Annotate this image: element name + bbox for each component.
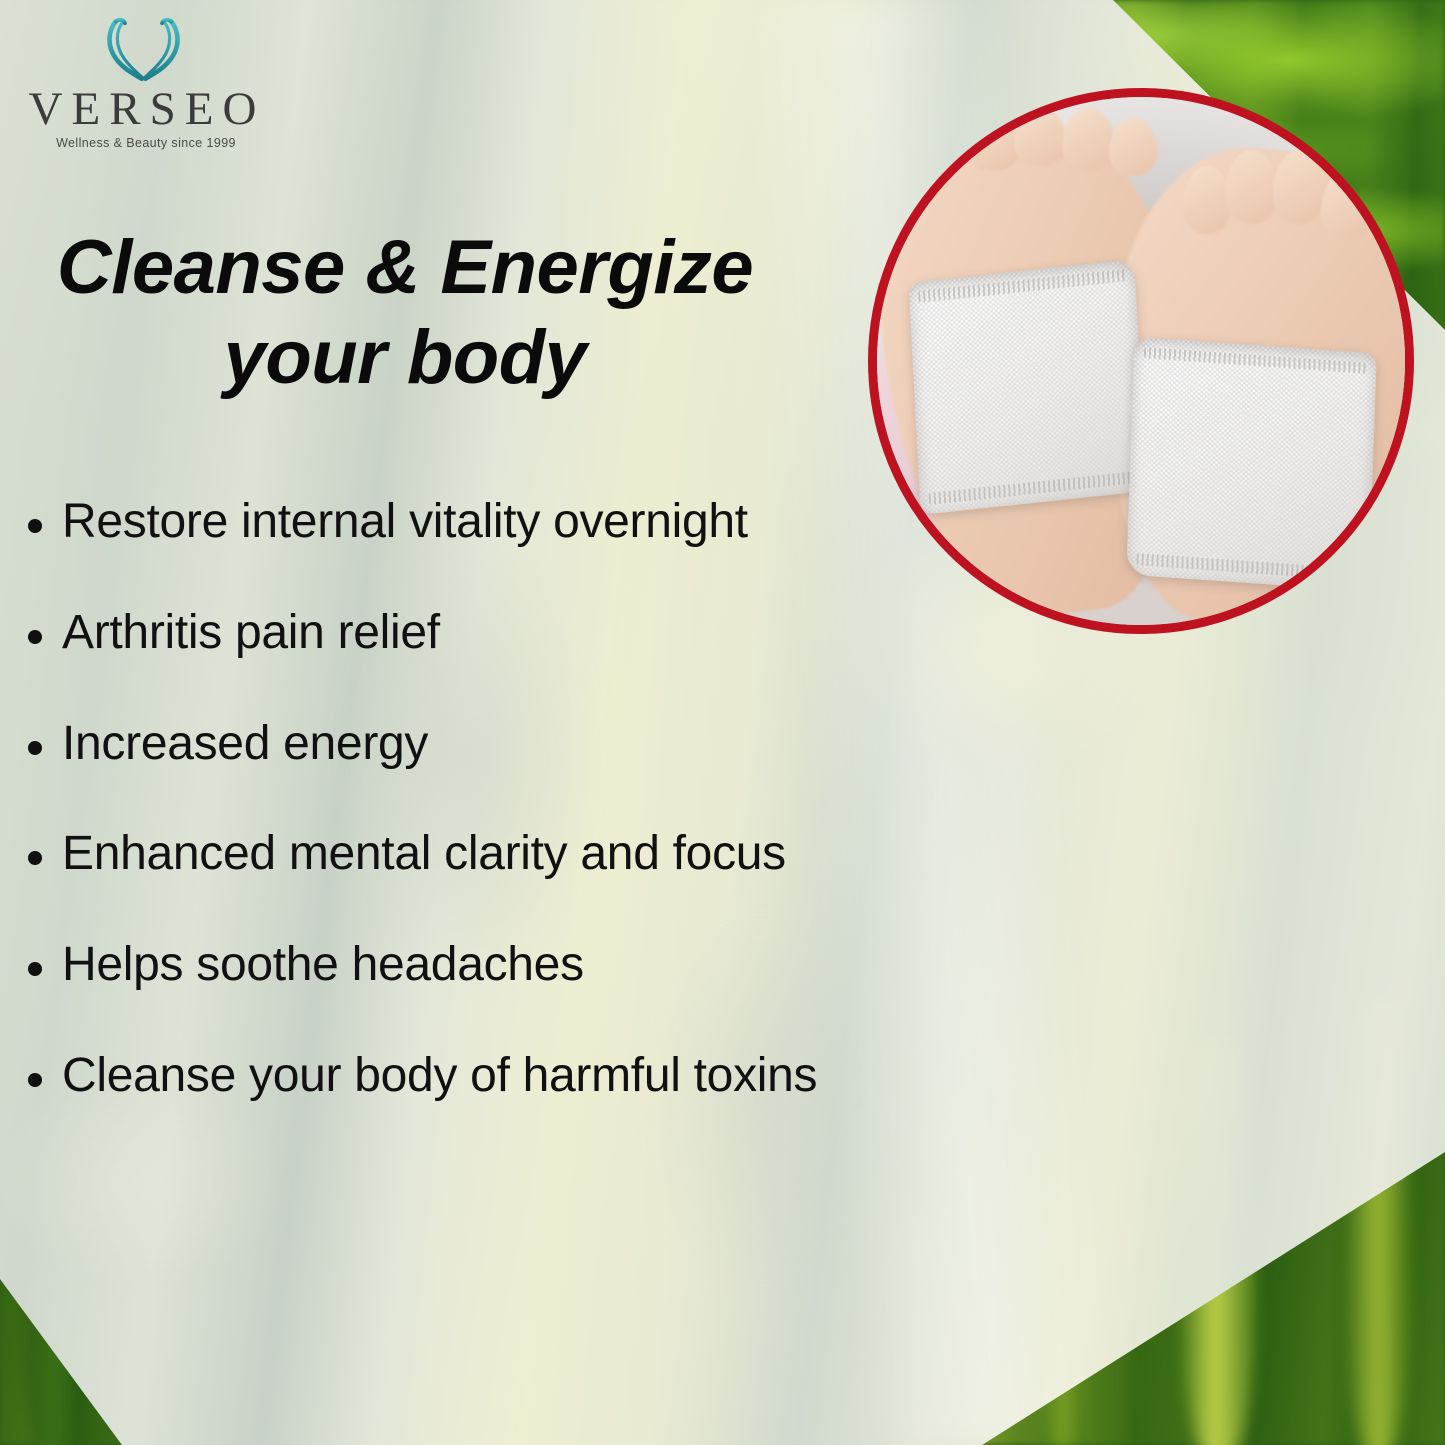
list-item: Arthritis pain relief <box>28 607 988 660</box>
product-photo-image <box>877 97 1405 625</box>
list-item: Enhanced mental clarity and focus <box>28 828 988 881</box>
bullet-icon <box>28 851 42 865</box>
pad-seam <box>1144 347 1367 374</box>
benefit-label: Helps soothe headaches <box>62 939 584 992</box>
list-item: Cleanse your body of harmful toxins <box>28 1050 988 1103</box>
pad-seam <box>1137 554 1360 581</box>
bullet-icon <box>28 1073 42 1087</box>
product-photo-circle <box>868 88 1414 634</box>
benefit-label: Arthritis pain relief <box>62 607 440 660</box>
bullet-icon <box>28 519 42 533</box>
butterfly-monogram-icon <box>88 14 199 88</box>
benefits-list: Restore internal vitality overnight Arth… <box>28 496 988 1161</box>
headline-line-2: your body <box>10 313 800 403</box>
brand-wordmark: VERSEO <box>26 88 268 131</box>
toe <box>967 118 1020 171</box>
page-title: Cleanse & Energize your body <box>10 223 800 402</box>
brand-tagline: Wellness & Beauty since 1999 <box>24 136 268 150</box>
bullet-icon <box>28 630 42 644</box>
detox-foot-pad <box>1127 337 1378 592</box>
headline-line-1: Cleanse & Energize <box>10 223 800 313</box>
benefit-label: Enhanced mental clarity and focus <box>62 828 786 881</box>
bullet-icon <box>28 741 42 755</box>
toe <box>1109 118 1157 176</box>
brand-logo: VERSEO Wellness & Beauty since 1999 <box>18 14 268 150</box>
list-item: Increased energy <box>28 718 988 771</box>
product-infographic-poster: VERSEO Wellness & Beauty since 1999 Clea… <box>0 0 1445 1445</box>
benefit-label: Cleanse your body of harmful toxins <box>62 1050 817 1103</box>
benefit-label: Increased energy <box>62 718 428 771</box>
list-item: Helps soothe headaches <box>28 939 988 992</box>
bullet-icon <box>28 962 42 976</box>
list-item: Restore internal vitality overnight <box>28 496 988 549</box>
benefit-label: Restore internal vitality overnight <box>62 496 748 549</box>
detox-foot-pad <box>908 259 1146 515</box>
